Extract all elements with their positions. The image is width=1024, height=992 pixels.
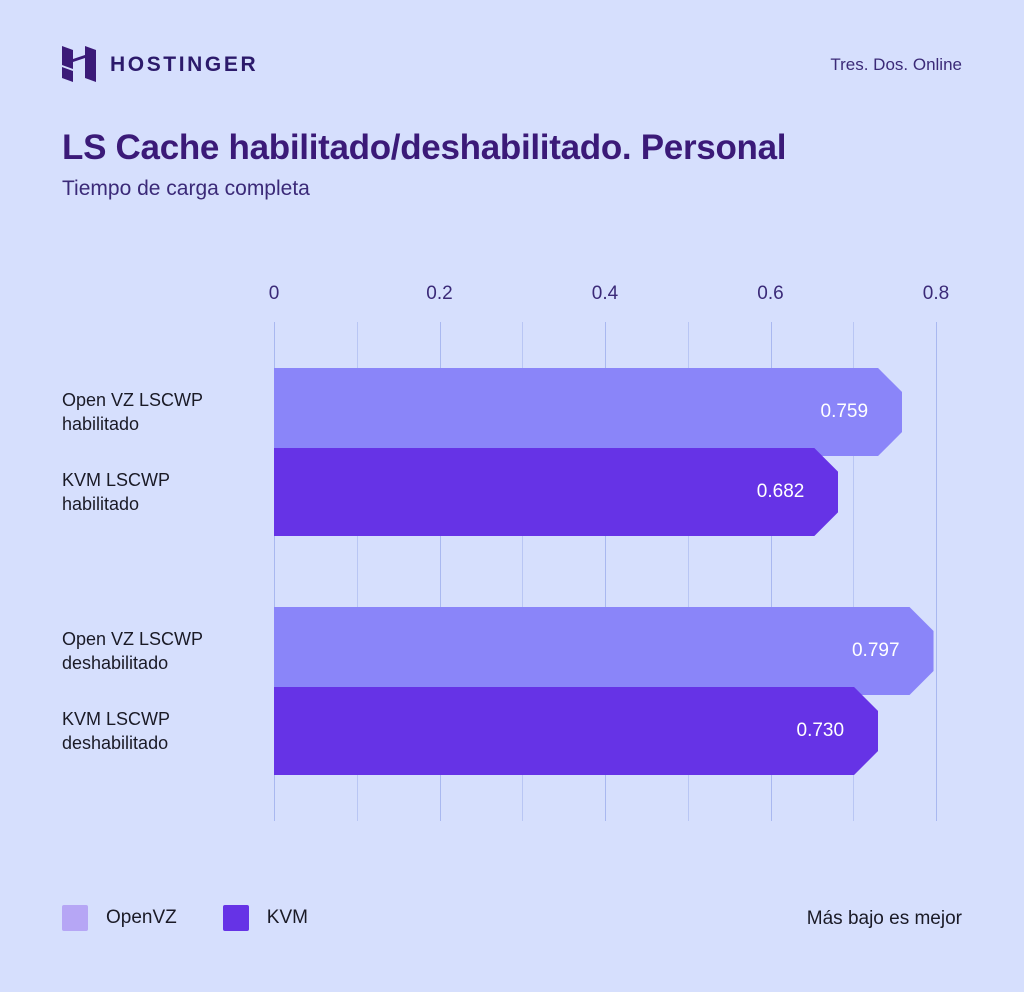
bar (274, 607, 934, 695)
bar (274, 687, 878, 775)
bar-value-label: 0.759 (821, 401, 869, 423)
legend-item[interactable]: OpenVZ (62, 905, 177, 931)
legend-label: OpenVZ (106, 907, 177, 929)
bar-value-label: 0.797 (852, 640, 900, 662)
bar (274, 368, 902, 456)
bar-row: 0.797 (274, 607, 934, 695)
legend-item[interactable]: KVM (223, 905, 308, 931)
bar-row: 0.682 (274, 448, 838, 536)
bar-row: 0.759 (274, 368, 902, 456)
chart-plot-area: 00.20.40.60.8 0.759Open VZ LSCWP habilit… (0, 0, 1024, 992)
legend-swatch-kvm (223, 905, 249, 931)
bar-category-label: Open VZ LSCWP habilitado (62, 388, 277, 437)
bar (274, 448, 838, 536)
legend-label: KVM (267, 907, 308, 929)
chart-bars: 0.759Open VZ LSCWP habilitado0.682KVM LS… (0, 0, 1024, 992)
bar-category-label: KVM LSCWP habilitado (62, 468, 277, 517)
bar-value-label: 0.682 (757, 481, 805, 503)
bar-value-label: 0.730 (797, 720, 845, 742)
bar-category-label: KVM LSCWP deshabilitado (62, 707, 277, 756)
chart-legend: OpenVZKVM (62, 905, 308, 931)
bar-category-label: Open VZ LSCWP deshabilitado (62, 627, 277, 676)
bar-row: 0.730 (274, 687, 878, 775)
legend-swatch-openvz (62, 905, 88, 931)
chart-footnote: Más bajo es mejor (807, 908, 962, 930)
